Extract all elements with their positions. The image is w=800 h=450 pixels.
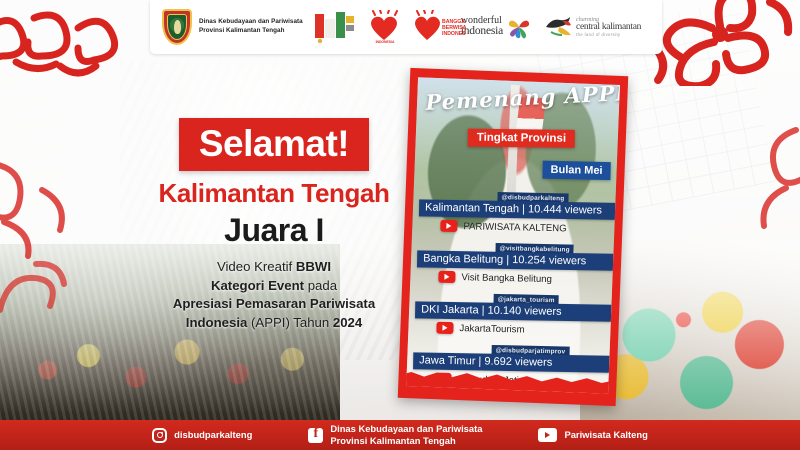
youtube-channel-label: Pariwisata Kalteng [564, 429, 647, 441]
gerakan-bangga-buatan-indonesia-logo [314, 10, 356, 44]
facebook-label-line1: Dinas Kebudayaan dan Pariwisata [330, 423, 482, 434]
headline-block: Selamat! Kalimantan Tengah Juara I Video… [132, 118, 416, 333]
facebook-label-line2: Provinsi Kalimantan Tengah [330, 435, 455, 446]
dayak-ornament-icon [0, 250, 80, 330]
subtitle-text: (APPI) Tahun [247, 315, 333, 330]
poster-canvas: Dinas Kebudayaan dan Pariwisata Provinsi… [0, 0, 800, 450]
wonderful-indonesia-mark-icon [506, 14, 532, 40]
youtube-icon [436, 322, 453, 334]
channel-row: JakartaTourism [436, 322, 610, 338]
youtube-icon [438, 271, 455, 283]
subtitle-text-bold: 2024 [333, 315, 362, 330]
list-item: @visitbangkabelitung Bangka Belitung | 1… [410, 232, 614, 288]
viewers-bar: Bangka Belitung | 10.254 viewers [417, 250, 613, 270]
month-badge: Bulan Mei [542, 161, 610, 180]
facebook-page-label: Dinas Kebudayaan dan Pariwisata Provinsi… [330, 423, 482, 447]
winners-list: @disbudparkalteng Kalimantan Tengah | 10… [406, 181, 616, 394]
instagram-handle-label: disbudparkalteng [174, 429, 252, 441]
footer-youtube[interactable]: Pariwisata Kalteng [538, 428, 647, 442]
channel-row: PARIWISATA KALTENG [440, 220, 614, 236]
facebook-icon [308, 428, 323, 443]
indonesia-word: indonesia [461, 26, 503, 38]
central-kalimantan-wordmark: charming central kalimantan the land of … [576, 17, 641, 38]
svg-text:INDONESIA: INDONESIA [442, 31, 466, 37]
header-logo-bar: Dinas Kebudayaan dan Pariwisata Provinsi… [150, 0, 662, 54]
bangga-berwisata-indonesia-logo: INDONESIA [367, 10, 403, 44]
channel-name: JakartaTourism [459, 323, 524, 335]
social-footer-bar: disbudparkalteng Dinas Kebudayaan dan Pa… [0, 420, 800, 450]
footer-facebook[interactable]: Dinas Kebudayaan dan Pariwisata Provinsi… [308, 423, 482, 447]
rank-title: Juara I [132, 212, 416, 249]
viewers-bar: Jawa Timur | 9.692 viewers [413, 352, 609, 372]
selamat-banner: Selamat! [179, 118, 369, 171]
winners-polaroid-panel: Pemenang APPI Tingkat Provinsi Bulan Mei… [398, 68, 629, 406]
polaroid-photo: Pemenang APPI Tingkat Provinsi Bulan Mei… [406, 77, 620, 394]
agency-logo-block: Dinas Kebudayaan dan Pariwisata Provinsi… [162, 9, 303, 45]
province-name: Kalimantan Tengah [132, 178, 416, 209]
svg-text:INDONESIA: INDONESIA [375, 40, 394, 44]
channel-row: Visit Bangka Belitung [438, 271, 612, 287]
channel-name: Visit Bangka Belitung [461, 272, 552, 285]
viewers-bar: DKI Jakarta | 10.140 viewers [415, 301, 611, 321]
wonderful-indonesia-wordmark: wonderful indonesia [461, 16, 503, 38]
subtitle-block: Video Kreatif BBWI Kategori Event pada A… [132, 258, 416, 333]
footer-instagram[interactable]: disbudparkalteng [152, 428, 252, 443]
central-kalimantan-tagline: the land of diversity [576, 33, 641, 37]
subtitle-line: Video Kreatif BBWI [132, 258, 416, 277]
list-item: @disbudparkalteng Kalimantan Tengah | 10… [412, 181, 616, 237]
kalteng-shield-emblem-icon [162, 9, 192, 45]
subtitle-text-bold: BBWI [296, 259, 331, 274]
agency-name-line2: Provinsi Kalimantan Tengah [199, 27, 303, 36]
agency-name-line1: Dinas Kebudayaan dan Pariwisata [199, 18, 303, 27]
wonderful-indonesia-logo: wonderful indonesia [461, 14, 532, 40]
dayak-ornament-icon [716, 120, 800, 240]
viewers-bar: Kalimantan Tengah | 10.444 viewers [419, 199, 615, 219]
bangga-berwisata-indonesia-wordmark-logo: BANGGA BERWISATA INDONESIA [414, 10, 450, 44]
subtitle-text-bold: Kategori Event [211, 278, 304, 293]
subtitle-text: pada [304, 278, 337, 293]
subtitle-text: Video Kreatif [217, 259, 296, 274]
hornbill-bird-icon [543, 15, 573, 39]
dayak-ornament-icon [0, 6, 132, 101]
instagram-icon [152, 428, 167, 443]
youtube-icon [440, 220, 457, 232]
list-item: @jakarta_tourism DKI Jakarta | 10.140 vi… [408, 283, 612, 339]
subtitle-text-bold: Indonesia [186, 315, 248, 330]
subtitle-text-bold: Apresiasi Pemasaran Pariwisata [173, 296, 375, 311]
level-badge: Tingkat Provinsi [468, 129, 575, 148]
agency-name: Dinas Kebudayaan dan Pariwisata Provinsi… [199, 18, 303, 36]
subtitle-line: Apresiasi Pemasaran Pariwisata [132, 295, 416, 314]
subtitle-line: Indonesia (APPI) Tahun 2024 [132, 314, 416, 333]
youtube-icon [538, 428, 557, 442]
channel-name: PARIWISATA KALTENG [463, 221, 566, 234]
subtitle-line: Kategori Event pada [132, 277, 416, 296]
central-kalimantan-logo: charming central kalimantan the land of … [543, 15, 641, 39]
